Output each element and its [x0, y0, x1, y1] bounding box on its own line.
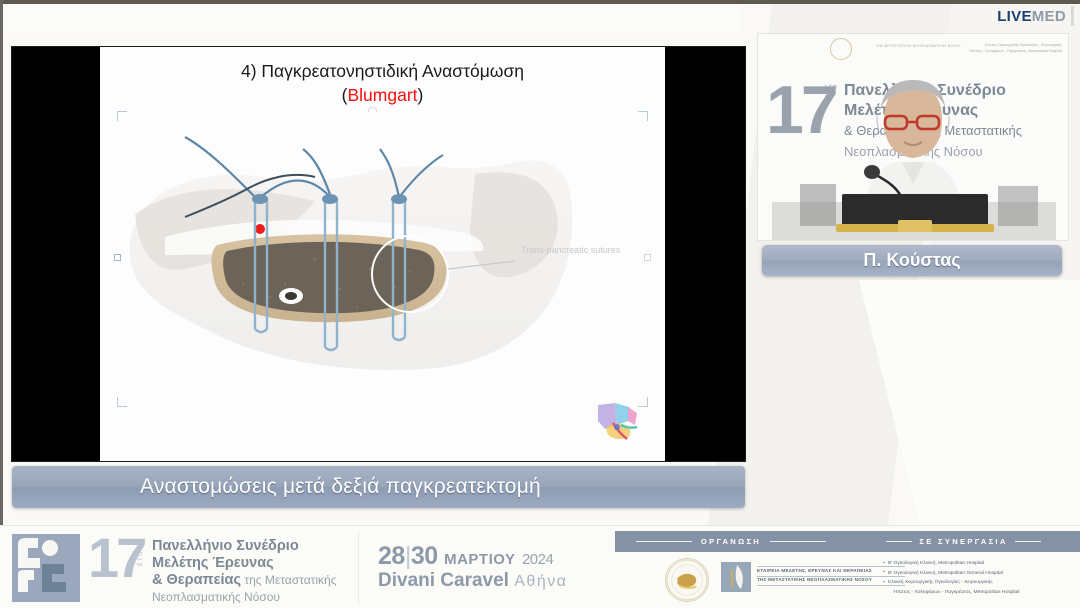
- list-item-line2: Ήπατος - Χοληφόρων - Παγκρέατος, Metropo…: [888, 588, 1079, 598]
- slide-content: 4) Παγκρεατονηστιδική Αναστόμωση (Blumga…: [100, 47, 665, 461]
- list-item: Β' Ογκολογική Κλινική, Metropolitan Gene…: [883, 569, 1079, 579]
- collaboration-header-text: ΣΕ ΣΥΝΕΡΓΑΣΙΑ: [919, 537, 1007, 546]
- conference-date-start: 28: [378, 542, 405, 570]
- video-backdrop-small-right-1: Κλινική Χειρουργικής Ογκολογίας - Χειρου…: [985, 43, 1062, 47]
- conference-line3: & Θεραπείας της Μεταστατικής: [152, 572, 337, 588]
- livemed-logo-bar: [1071, 6, 1074, 26]
- selection-handle-tr[interactable]: [638, 111, 648, 121]
- selection-handle-top[interactable]: [368, 107, 377, 112]
- conference-line3-thin: της Μεταστατικής: [241, 573, 337, 587]
- organization-header-bar: ΟΡΓΑΝΩΣΗ ΣΕ ΣΥΝΕΡΓΑΣΙΑ: [615, 531, 1080, 552]
- selection-handle-bl[interactable]: [117, 397, 127, 407]
- slide-caption-text: Αναστομώσεις μετά δεξιά παγκρεατεκτομή: [12, 475, 541, 499]
- conference-banner-left: 17 ° έτος Πανελλήνιο Συνέδριο Μελέτης Έρ…: [0, 526, 615, 608]
- hbp-anatomical-logo: [595, 399, 641, 443]
- slide-caption-bar: Αναστομώσεις μετά δεξιά παγκρεατεκτομή: [12, 466, 745, 508]
- collaborators-list: Β' Ογκολογική Κλινική, Metropolitan Hosp…: [883, 559, 1079, 597]
- presentation-slide[interactable]: 4) Παγκρεατονηστιδική Αναστόμωση (Blumga…: [12, 47, 745, 461]
- livemed-logo-secondary: MED: [1032, 8, 1066, 25]
- slide-subtitle-close: ): [418, 85, 424, 105]
- top-border: [0, 0, 1080, 4]
- slide-title: 4) Παγκρεατονηστιδική Αναστόμωση: [100, 59, 665, 84]
- illustration-svg: [125, 119, 640, 399]
- video-backdrop-seal-icon: [830, 38, 852, 60]
- selection-handle-right[interactable]: [644, 254, 651, 261]
- speaker-name: Π. Κούστας: [863, 250, 960, 271]
- conference-banner: 17 ° έτος Πανελλήνιο Συνέδριο Μελέτης Έρ…: [0, 525, 1080, 608]
- conference-line1: Πανελλήνιο Συνέδριο: [152, 538, 299, 554]
- list-item-line1: Κλινική Χειρουργικής Ογκολογίας - Χειρου…: [888, 580, 993, 585]
- pancreaticojejunostomy-illustration[interactable]: Trans-pancreatic sutures: [125, 119, 640, 399]
- selection-handle-left[interactable]: [114, 254, 121, 261]
- laser-pointer-dot: [255, 224, 265, 234]
- medical-society-seal-icon: [665, 558, 709, 602]
- page-root: LIVEMED 4) Παγκρεατονηστιδική Αναστόμωση…: [0, 0, 1080, 608]
- slide-subtitle-highlight: Blumgart: [347, 85, 417, 105]
- left-border: [0, 0, 3, 525]
- society-name-line2: ΤΗΣ ΜΕΤΑΣΤΑΤΙΚΗΣ ΝΕΟΠΛΑΣΜΑΤΙΚΗΣ ΝΟΣΟΥ: [757, 577, 872, 582]
- conference-month: ΜΑΡΤΙΟΥ: [444, 551, 515, 568]
- conference-venue-name: Divani Caravel: [378, 570, 509, 591]
- list-item: Κλινική Χειρουργικής Ογκολογίας - Χειρου…: [883, 578, 1079, 597]
- conference-etos: έτος: [134, 545, 144, 566]
- conference-year: 2024: [522, 551, 553, 568]
- speaker-name-bar: Π. Κούστας: [762, 245, 1062, 276]
- conference-dates: 28|30 ΜΑΡΤΙΟΥ 2024: [378, 542, 553, 571]
- collaboration-header: ΣΕ ΣΥΝΕΡΓΑΣΙΑ: [847, 537, 1080, 546]
- livemed-logo-primary: LIVE: [997, 8, 1032, 25]
- speaker-video-panel[interactable]: ΤΗΣ ΜΕΤΑΣΤΑΤΙΚΗΣ ΝΕΟΠΛΑΣΜΑΤΙΚΗΣ ΝΟΣΟΥ Κλ…: [757, 33, 1069, 241]
- conference-line2: Μελέτης Έρευνας: [152, 555, 274, 571]
- slide-subtitle: (Blumgart): [100, 85, 665, 106]
- conference-line3-bold: & Θεραπείας: [152, 572, 241, 588]
- video-backdrop-degree: °: [832, 82, 837, 97]
- video-backdrop-small-text-left: ΤΗΣ ΜΕΤΑΣΤΑΤΙΚΗΣ ΝΕΟΠΛΑΣΜΑΤΙΚΗΣ ΝΟΣΟΥ: [876, 44, 961, 48]
- video-backdrop-small-text-right: Κλινική Χειρουργικής Ογκολογίας - Χειρου…: [969, 43, 1062, 55]
- microphone-icon: [856, 152, 916, 222]
- conference-date-end: 30: [411, 542, 438, 570]
- organization-header: ΟΡΓΑΝΩΣΗ: [615, 537, 847, 546]
- video-backdrop-etos: έτος: [822, 83, 832, 104]
- society-logo-icon: [721, 562, 751, 592]
- society-name-line1: ΕΤΑΙΡΕΙΑ ΜΕΛΕΤΗΣ, ΕΡΕΥΝΑΣ ΚΑΙ ΘΕΡΑΠΕΙΑΣ: [757, 568, 872, 573]
- conference-line4: Νεοπλασματικής Νόσου: [152, 590, 280, 604]
- livemed-logo: LIVEMED: [997, 8, 1066, 25]
- video-backdrop-small-right-2: Ήπατος - Χοληφόρων - Παγκρέατος, Metropo…: [969, 49, 1062, 53]
- conference-city: Αθήνα: [514, 573, 567, 590]
- organization-header-text: ΟΡΓΑΝΩΣΗ: [701, 537, 761, 546]
- list-item: Β' Ογκολογική Κλινική, Metropolitan Hosp…: [883, 559, 1079, 569]
- bg-decoration-top: [0, 0, 740, 32]
- bg-decoration-wedge: [859, 280, 1080, 530]
- illustration-label: Trans-pancreatic sutures: [521, 244, 620, 257]
- pancreatic-duct-lumen: [285, 292, 297, 300]
- selection-handle-tl[interactable]: [117, 111, 127, 121]
- banner-divider: [358, 532, 359, 604]
- conference-logo-icon: [12, 534, 80, 602]
- conference-venue: Divani Caravel Αθήνα: [378, 570, 567, 592]
- conference-banner-right: ΟΡΓΑΝΩΣΗ ΣΕ ΣΥΝΕΡΓΑΣΙΑ: [615, 526, 1080, 608]
